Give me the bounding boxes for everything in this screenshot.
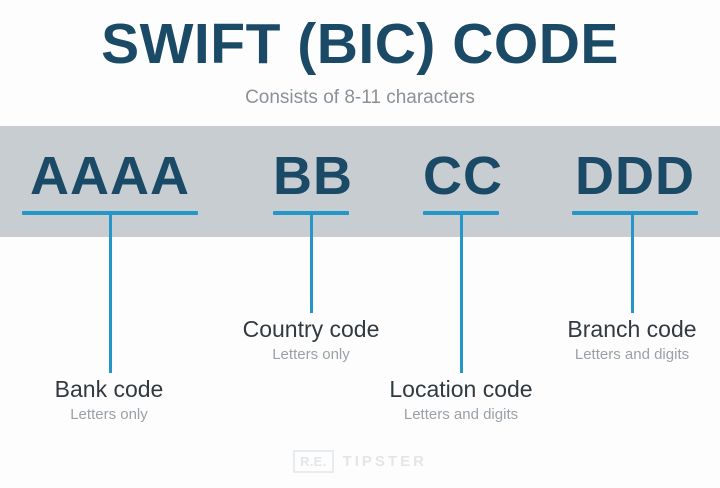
connector-bank [109,213,112,373]
label-title-location: Location code [361,375,561,403]
footer-logo-word: TIPSTER [343,454,427,470]
connector-location [460,213,463,373]
label-title-bank: Bank code [9,375,209,403]
footer-logo-mark: R.E. [293,450,333,473]
code-token-bank: AAAA [22,146,198,206]
label-detail-location: Letters and digits [361,405,561,425]
page-subtitle: Consists of 8-11 characters [0,86,720,110]
code-token-location: CC [423,146,499,206]
code-token-branch: DDD [572,146,698,206]
page-title: SWIFT (BIC) CODE [0,12,720,76]
connector-country [310,213,313,313]
label-group-bank: Bank code Letters only [9,375,209,425]
connector-branch [631,213,634,313]
swift-bic-code-infographic: SWIFT (BIC) CODE Consists of 8-11 charac… [0,0,720,488]
label-group-branch: Branch code Letters and digits [532,315,720,365]
footer-watermark: R.E. TIPSTER [0,450,720,473]
header: SWIFT (BIC) CODE Consists of 8-11 charac… [0,0,720,126]
label-group-location: Location code Letters and digits [361,375,561,425]
code-token-country: BB [273,146,349,206]
label-detail-country: Letters only [211,345,411,365]
label-detail-bank: Letters only [9,405,209,425]
label-title-branch: Branch code [532,315,720,343]
label-title-country: Country code [211,315,411,343]
underline-branch [572,211,698,215]
code-band: AAAA BB CC DDD [0,126,720,237]
label-group-country: Country code Letters only [211,315,411,365]
label-detail-branch: Letters and digits [532,345,720,365]
